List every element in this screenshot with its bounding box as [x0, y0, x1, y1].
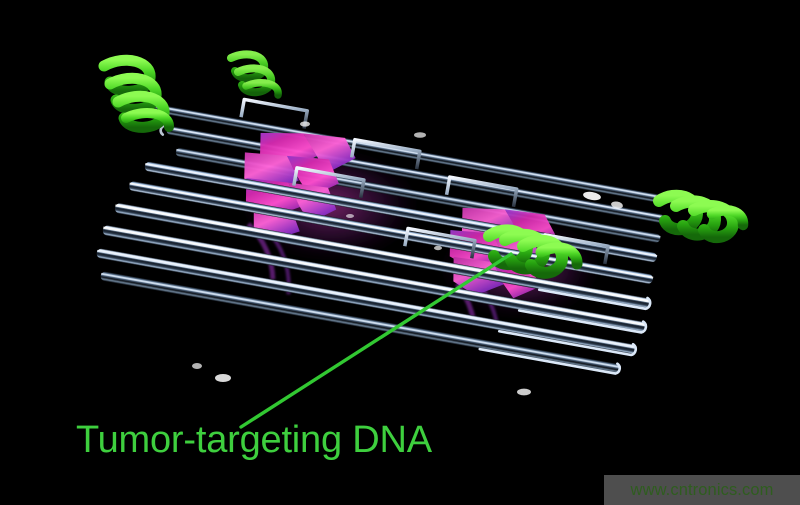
illustration-scene: Tumor-targeting DNA www.cntronics.com [0, 0, 800, 505]
watermark-bar: www.cntronics.com [604, 475, 800, 505]
annotation-label: Tumor-targeting DNA [76, 421, 432, 461]
watermark-text: www.cntronics.com [631, 481, 774, 500]
